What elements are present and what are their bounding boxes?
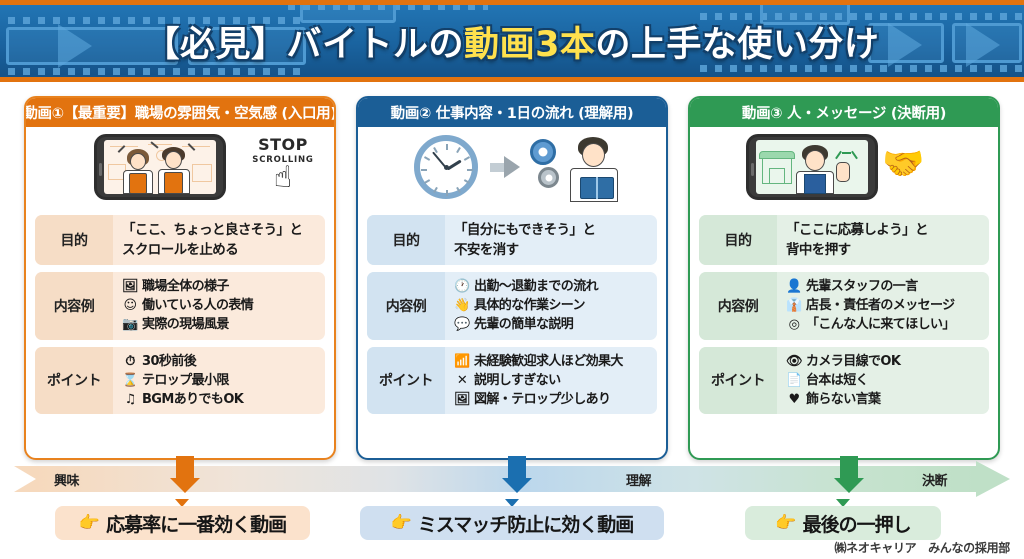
callout-mismatch[interactable]: 👉 ミスマッチ防止に効く動画	[360, 506, 664, 540]
value-line: 🖼図解・テロップ少しあり	[454, 391, 653, 408]
value-line: 「ここに応募しよう」と	[786, 221, 985, 239]
value-line: 「自分にもできそう」と	[454, 221, 653, 239]
row-label: 内容例	[35, 272, 113, 339]
value-text: BGMありでもOK	[142, 391, 243, 408]
stop-scrolling-overlay: STOP SCROLLING ☝	[244, 137, 322, 193]
row-examples: 内容例 🖼職場全体の様子 ☺働いている人の表情 📷実際の現場風景	[35, 272, 325, 339]
gear-icon	[530, 139, 556, 165]
bar-chart-icon: 📶	[454, 353, 470, 370]
row-label: ポイント	[367, 347, 445, 414]
row-purpose: 目的 「ここに応募しよう」と 背中を押す	[699, 215, 989, 265]
value-line: 💬先輩の簡単な説明	[454, 316, 653, 333]
infographic-page: 【必見】バイトルの動画3本の上手な使い分け 動画①【最重要】職場の雰囲気・空気感…	[0, 0, 1024, 559]
phone-screen	[104, 140, 216, 194]
diagram-icon: 🖼	[454, 391, 470, 408]
handshake-icon: 🤝	[882, 147, 924, 181]
row-value: 👁カメラ目線でOK 📄台本は短く ♥飾らない言葉	[777, 347, 989, 414]
value-text: 図解・テロップ少しあり	[474, 391, 610, 408]
connector-arrow-2	[502, 456, 532, 493]
value-text: 実際の現場風景	[142, 316, 229, 333]
callout-text: ミスマッチ防止に効く動画	[418, 510, 633, 537]
row-points: ポイント ⏱30秒前後 ⌛テロップ最小限 ♫BGMありでもOK	[35, 347, 325, 414]
value-text: 「こんな人に来てほしい」	[806, 316, 955, 333]
value-text: カメラ目線でOK	[806, 353, 900, 370]
value-line: ✕説明しすぎない	[454, 372, 653, 389]
card-3-illustration: 🤝	[690, 127, 998, 209]
value-line: 👋具体的な作業シーン	[454, 297, 653, 314]
smartphone-icon	[94, 134, 226, 200]
title-part-pre: 【必見】バイトルの	[145, 25, 465, 65]
row-label: ポイント	[35, 347, 113, 414]
value-text: 台本は短く	[806, 372, 868, 389]
row-value: 「自分にもできそう」と 不安を消す	[445, 215, 657, 265]
row-purpose: 目的 「自分にもできそう」と 不安を消す	[367, 215, 657, 265]
funnel-stage-interest: 興味	[54, 470, 79, 489]
value-line: 📷実際の現場風景	[122, 316, 321, 333]
value-text: 飾らない言葉	[806, 391, 880, 408]
card-group: 動画①【最重要】職場の雰囲気・空気感 (入口用)	[0, 96, 1024, 456]
title-part-post: の上手な使い分け	[595, 25, 879, 65]
callout-text: 応募率に一番効く動画	[106, 510, 286, 537]
row-examples: 内容例 👤先輩スタッフの一言 👔店長・責任者のメッセージ ◎「こんな人に来てほし…	[699, 272, 989, 339]
clock-icon	[414, 135, 478, 199]
smartphone-icon	[746, 134, 878, 200]
clock-icon: 🕐	[454, 278, 470, 295]
value-line: 🕐出勤〜退勤までの流れ	[454, 278, 653, 295]
card-3-rows: 目的 「ここに応募しよう」と 背中を押す 内容例 👤先輩スタッフの一言 👔店長・…	[690, 209, 998, 422]
right-arrow-icon	[504, 156, 520, 178]
funnel-left-notch	[14, 466, 36, 492]
pointing-right-icon: 👉	[775, 513, 795, 533]
smiley-icon: ☺	[122, 297, 138, 314]
heart-icon: ♥	[786, 391, 802, 408]
row-label: 内容例	[367, 272, 445, 339]
value-line: 👤先輩スタッフの一言	[786, 278, 985, 295]
card-2-header: 動画② 仕事内容・1日の流れ (理解用)	[358, 98, 666, 127]
value-text: 職場全体の様子	[142, 278, 229, 295]
value-line: ◎「こんな人に来てほしい」	[786, 316, 985, 333]
speech-bubble-icon: 💬	[454, 316, 470, 333]
camera-icon: 📷	[122, 316, 138, 333]
row-label: 目的	[367, 215, 445, 265]
gear-icon	[538, 167, 559, 188]
value-text: 30秒前後	[142, 353, 196, 370]
value-text: 説明しすぎない	[474, 372, 561, 389]
target-icon: ◎	[786, 316, 802, 333]
row-value: ⏱30秒前後 ⌛テロップ最小限 ♫BGMありでもOK	[113, 347, 325, 414]
row-points: ポイント 📶未経験歓迎求人ほど効果大 ✕説明しすぎない 🖼図解・テロップ少しあり	[367, 347, 657, 414]
value-line: ⌛テロップ最小限	[122, 372, 321, 389]
value-text: テロップ最小限	[142, 372, 229, 389]
card-1-illustration: STOP SCROLLING ☝	[26, 127, 334, 209]
value-line: 🖼職場全体の様子	[122, 278, 321, 295]
footer-credit: ㈱ネオキャリア みんなの採用部	[834, 539, 1010, 556]
card-video-2[interactable]: 動画② 仕事内容・1日の流れ (理解用)	[356, 96, 668, 460]
row-purpose: 目的 「ここ、ちょっと良さそう」と スクロールを止める	[35, 215, 325, 265]
apron-icon	[804, 174, 826, 194]
card-video-1[interactable]: 動画①【最重要】職場の雰囲気・空気感 (入口用)	[24, 96, 336, 460]
person-reading-icon	[564, 137, 634, 203]
row-value: 🖼職場全体の様子 ☺働いている人の表情 📷実際の現場風景	[113, 272, 325, 339]
value-line: 👔店長・責任者のメッセージ	[786, 297, 985, 314]
phone-screen	[756, 140, 868, 194]
pointing-hand-icon: ☝	[244, 163, 322, 193]
film-perforation-icon	[8, 68, 308, 75]
ok-hand-icon	[836, 162, 850, 182]
value-text: 未経験歓迎求人ほど効果大	[474, 353, 623, 370]
value-line: 👁カメラ目線でOK	[786, 353, 985, 370]
row-label: 目的	[35, 215, 113, 265]
card-video-3[interactable]: 動画③ 人・メッセージ (決断用)	[688, 96, 1000, 460]
connector-arrow-1	[170, 456, 200, 493]
card-1-header: 動画①【最重要】職場の雰囲気・空気感 (入口用)	[26, 98, 334, 127]
value-line: 📄台本は短く	[786, 372, 985, 389]
hourglass-icon: ⌛	[122, 372, 138, 389]
music-note-icon: ♫	[122, 391, 138, 408]
callout-text: 最後の一押し	[803, 510, 911, 537]
callout-conversion[interactable]: 👉 応募率に一番効く動画	[55, 506, 310, 540]
funnel-stage-decision: 決断	[922, 470, 947, 489]
row-examples: 内容例 🕐出勤〜退勤までの流れ 👋具体的な作業シーン 💬先輩の簡単な説明	[367, 272, 657, 339]
value-text: 働いている人の表情	[142, 297, 253, 314]
value-line: スクロールを止める	[122, 241, 321, 259]
row-value: 「ここ、ちょっと良さそう」と スクロールを止める	[113, 215, 325, 265]
value-line: ⏱30秒前後	[122, 353, 321, 370]
funnel-arrowhead	[976, 461, 1010, 497]
callout-final-push[interactable]: 👉 最後の一押し	[745, 506, 941, 540]
value-text: 先輩の簡単な説明	[474, 316, 573, 333]
image-icon: 🖼	[122, 278, 138, 295]
value-line: ♫BGMありでもOK	[122, 391, 321, 408]
eye-icon: 👁	[786, 353, 802, 370]
pointing-right-icon: 👉	[79, 513, 99, 533]
row-label: 内容例	[699, 272, 777, 339]
value-text: 店長・責任者のメッセージ	[806, 297, 955, 314]
stopwatch-icon: ⏱	[122, 353, 138, 370]
value-text: 先輩スタッフの一言	[806, 278, 918, 295]
stop-label: STOP	[244, 137, 322, 153]
row-value: 「ここに応募しよう」と 背中を押す	[777, 215, 989, 265]
value-line: 📶未経験歓迎求人ほど効果大	[454, 353, 653, 370]
value-line: ♥飾らない言葉	[786, 391, 985, 408]
row-value: 📶未経験歓迎求人ほど効果大 ✕説明しすぎない 🖼図解・テロップ少しあり	[445, 347, 657, 414]
row-value: 🕐出勤〜退勤までの流れ 👋具体的な作業シーン 💬先輩の簡単な説明	[445, 272, 657, 339]
funnel-stage-understanding: 理解	[626, 470, 651, 489]
card-2-illustration	[358, 127, 666, 209]
card-3-header: 動画③ 人・メッセージ (決断用)	[690, 98, 998, 127]
row-points: ポイント 👁カメラ目線でOK 📄台本は短く ♥飾らない言葉	[699, 347, 989, 414]
value-line: 背中を押す	[786, 241, 985, 259]
person-speaking-icon: 👤	[786, 278, 802, 295]
document-icon: 📄	[786, 372, 802, 389]
arrow-tail	[490, 163, 504, 172]
pointing-right-icon: 👉	[391, 513, 411, 533]
page-title: 【必見】バイトルの動画3本の上手な使い分け	[0, 16, 1024, 67]
value-text: 具体的な作業シーン	[474, 297, 585, 314]
waving-hand-icon: 👋	[454, 297, 470, 314]
value-line: 「ここ、ちょっと良さそう」と	[122, 221, 321, 239]
card-1-rows: 目的 「ここ、ちょっと良さそう」と スクロールを止める 内容例 🖼職場全体の様子…	[26, 209, 334, 422]
value-line: 不安を消す	[454, 241, 653, 259]
value-line: ☺働いている人の表情	[122, 297, 321, 314]
title-part-highlight: 動画3本	[464, 25, 595, 65]
row-label: ポイント	[699, 347, 777, 414]
row-value: 👤先輩スタッフの一言 👔店長・責任者のメッセージ ◎「こんな人に来てほしい」	[777, 272, 989, 339]
card-2-rows: 目的 「自分にもできそう」と 不安を消す 内容例 🕐出勤〜退勤までの流れ 👋具体…	[358, 209, 666, 422]
cross-icon: ✕	[454, 372, 470, 389]
header-banner: 【必見】バイトルの動画3本の上手な使い分け	[0, 0, 1024, 82]
row-label: 目的	[699, 215, 777, 265]
manager-icon: 👔	[786, 297, 802, 314]
value-text: 出勤〜退勤までの流れ	[474, 278, 598, 295]
connector-arrow-3	[834, 456, 864, 493]
